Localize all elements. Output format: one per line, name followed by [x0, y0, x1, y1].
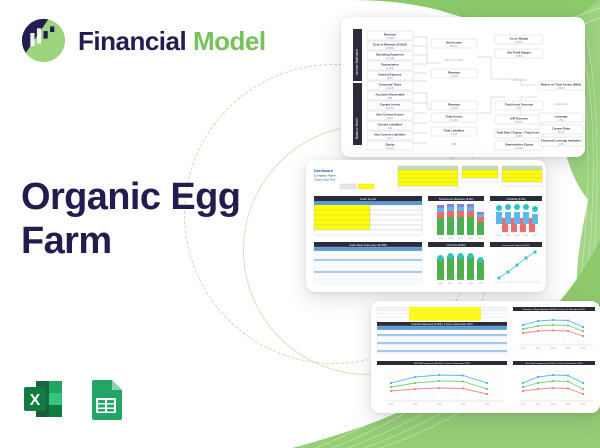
svg-text:20XX: 20XX	[438, 238, 444, 240]
svg-text:Total Debt / Equity + Total As: Total Debt / Equity + Total Assets	[496, 131, 542, 135]
svg-text:16,191: 16,191	[450, 119, 458, 122]
file-type-icons: X	[20, 375, 130, 423]
circle-bar-chart-logo-icon	[20, 17, 67, 64]
svg-text:Financial Leverage multiplier: Financial Leverage multiplier	[541, 139, 582, 143]
svg-text:Total Revenue Breakdown ($ 000: Total Revenue Breakdown ($ 000)	[439, 198, 474, 201]
svg-text:13,400: 13,400	[450, 75, 458, 78]
svg-text:20XX: 20XX	[448, 283, 454, 285]
svg-text:multiplied by: multiplied by	[554, 102, 569, 106]
svg-text:20XX: 20XX	[521, 404, 526, 406]
svg-text:20XX: 20XX	[551, 404, 556, 406]
svg-text:Profitability ($ 000): Profitability ($ 000)	[506, 198, 525, 201]
logo-word-financial: Financial	[78, 26, 186, 56]
svg-text:20XX: 20XX	[521, 348, 526, 350]
svg-text:Revenue: Revenue	[448, 71, 460, 75]
svg-text:Current Assets: Current Assets	[380, 103, 401, 107]
svg-text:20XX: 20XX	[581, 348, 586, 350]
preview-card-statements[interactable]: Financial Statements ($ 000) | 5 Years t…	[371, 301, 600, 413]
svg-text:20XX: 20XX	[478, 283, 484, 285]
svg-text:Cost of Revenue (COGS): Cost of Revenue (COGS)	[373, 43, 407, 47]
svg-text:Revenue / Margin Analysis ($ 0: Revenue / Margin Analysis ($ 000) | 5 Ye…	[523, 308, 585, 311]
svg-text:198: 198	[452, 143, 457, 146]
svg-text:(6,580): (6,580)	[386, 47, 394, 50]
svg-text:Current Ratio: Current Ratio	[552, 127, 571, 131]
svg-text:20XX: 20XX	[458, 283, 464, 285]
svg-text:Dashboard: Dashboard	[314, 169, 333, 173]
svg-text:20XX: 20XX	[437, 404, 442, 406]
svg-text:13,400: 13,400	[386, 37, 394, 40]
svg-text:Financial Statements ($ 000) |: Financial Statements ($ 000) | 5 Years t…	[411, 323, 473, 326]
logo-wordmark: Financial Model	[78, 28, 266, 54]
logo-word-model: Model	[193, 26, 266, 56]
svg-text:198: 198	[388, 127, 393, 130]
svg-text:Organic Egg Farm: Organic Egg Farm	[314, 178, 335, 182]
svg-text:3.60%: 3.60%	[557, 87, 565, 90]
svg-text:20XX: 20XX	[448, 238, 454, 240]
svg-text:Non-Current Assets: Non-Current Assets	[376, 113, 404, 117]
svg-text:Net Income: Net Income	[446, 41, 462, 45]
svg-text:20XX: 20XX	[581, 404, 586, 406]
svg-text:A/R Turnover: A/R Turnover	[510, 117, 529, 121]
svg-text:583.21: 583.21	[450, 45, 458, 48]
svg-text:10,223: 10,223	[515, 147, 523, 150]
svg-text:(1,123): (1,123)	[386, 87, 394, 90]
svg-text:Income Statement: Income Statement	[355, 49, 359, 75]
svg-text:Net Profit Margin: Net Profit Margin	[507, 51, 531, 55]
svg-text:(2,718): (2,718)	[386, 57, 394, 60]
preview-card-dashboard[interactable]: Dashboard Company Name : Organic Egg Far…	[306, 160, 546, 292]
svg-text:13,400: 13,400	[450, 107, 458, 110]
svg-text:EBITDA Comparison ($ 000) | 5: EBITDA Comparison ($ 000) | 5 Years to D…	[414, 362, 470, 365]
svg-text:20XX: 20XX	[485, 404, 490, 406]
svg-text:20XX: 20XX	[468, 283, 474, 285]
svg-text:Revenue: Revenue	[448, 103, 460, 107]
svg-text:20XX: 20XX	[524, 235, 530, 237]
svg-text:0.83: 0.83	[517, 107, 522, 110]
svg-text:Leverage: Leverage	[555, 115, 568, 119]
svg-text:Accounts Receivable: Accounts Receivable	[375, 93, 404, 97]
svg-text:20XX: 20XX	[533, 235, 539, 237]
svg-text:Return on Total Assets (ROA): Return on Total Assets (ROA)	[541, 83, 582, 87]
svg-text:Equity: Equity	[386, 143, 395, 147]
svg-text:Cash Flow Summary ($ 000): Cash Flow Summary ($ 000)	[349, 243, 387, 247]
svg-text:20XX: 20XX	[438, 283, 444, 285]
svg-text:20XX: 20XX	[458, 238, 464, 240]
svg-text:Cash Flow ($ 000): Cash Flow ($ 000)	[447, 245, 466, 247]
svg-text:20XX: 20XX	[536, 348, 541, 350]
svg-text:Interest Expense: Interest Expense	[378, 73, 402, 77]
svg-text:Non-Current Liabilities: Non-Current Liabilities	[374, 133, 406, 137]
svg-text:51.00: 51.00	[558, 131, 565, 134]
svg-text:Operating Expenses: Operating Expenses	[376, 53, 404, 57]
svg-text:3,315: 3,315	[451, 133, 458, 136]
svg-text:20XX: 20XX	[515, 235, 521, 237]
svg-text:4.35%: 4.35%	[515, 55, 523, 58]
dupont-tree-image: Income Statement Balance Sheet	[341, 17, 585, 157]
svg-text:20XX: 20XX	[389, 404, 394, 406]
statements-image: Financial Statements ($ 000) | 5 Years t…	[371, 301, 600, 413]
svg-text:Investment Payback ($ 000): Investment Payback ($ 000)	[502, 244, 530, 247]
svg-text:Corporate Taxes: Corporate Taxes	[379, 83, 402, 87]
svg-text:20XX: 20XX	[536, 404, 541, 406]
svg-text:1.58: 1.58	[559, 143, 564, 146]
svg-text:Company Name :: Company Name :	[314, 174, 338, 178]
brand-logo: Financial Model	[20, 17, 266, 64]
preview-card-dupont-tree[interactable]: Income Statement Balance Sheet	[341, 17, 585, 157]
svg-text:6,097: 6,097	[387, 117, 394, 120]
svg-text:Net Profit Comparison ($ 000): Net Profit Comparison ($ 000) | 5 Years …	[525, 362, 583, 365]
svg-text:Depreciation: Depreciation	[381, 63, 399, 67]
svg-text:Total Liabilities: Total Liabilities	[444, 129, 465, 133]
svg-text:Current Liabilities: Current Liabilities	[378, 123, 403, 127]
svg-text:20XX: 20XX	[566, 404, 571, 406]
dashboard-image: Dashboard Company Name : Organic Egg Far…	[306, 160, 546, 292]
sheets-icon[interactable]	[82, 375, 130, 423]
svg-text:154.24: 154.24	[515, 121, 523, 124]
svg-text:20.5%: 20.5%	[515, 135, 523, 138]
svg-text:20XX: 20XX	[506, 235, 512, 237]
svg-text:3,117: 3,117	[387, 137, 394, 140]
title-line-2: Farm	[21, 220, 112, 262]
svg-text:(237): (237)	[387, 77, 393, 80]
svg-text:Cash Inputs: Cash Inputs	[360, 197, 377, 201]
svg-text:Revenue: Revenue	[384, 33, 396, 37]
svg-text:20XX: 20XX	[478, 238, 484, 240]
svg-text:Gross Margin: Gross Margin	[510, 37, 529, 41]
svg-text:10,094: 10,094	[386, 107, 394, 110]
svg-text:20XX: 20XX	[468, 238, 474, 240]
svg-text:50.9%: 50.9%	[515, 41, 523, 44]
svg-text:4.35% x 0.83: 4.35% x 0.83	[511, 78, 527, 82]
svg-text:20XX: 20XX	[497, 235, 503, 237]
svg-text:20XX: 20XX	[461, 404, 466, 406]
svg-text:846: 846	[388, 97, 393, 100]
svg-text:1.58x: 1.58x	[558, 119, 565, 122]
svg-text:583.21 / 13,400: 583.21 / 13,400	[445, 58, 464, 62]
svg-text:Total Asset Turnover: Total Asset Turnover	[505, 103, 534, 107]
svg-text:20XX: 20XX	[551, 348, 556, 350]
svg-text:20XX: 20XX	[566, 348, 571, 350]
svg-text:10,223: 10,223	[386, 147, 394, 150]
svg-text:Total Assets: Total Assets	[446, 115, 463, 119]
svg-text:X: X	[30, 392, 41, 409]
svg-text:20XX: 20XX	[413, 404, 418, 406]
title-line-1: Organic Egg	[21, 176, 240, 218]
svg-text:(1,180): (1,180)	[386, 67, 394, 70]
svg-text:Shareholders Equity: Shareholders Equity	[505, 143, 534, 147]
excel-icon[interactable]: X	[20, 375, 68, 423]
page-title: Organic Egg Farm	[21, 175, 276, 264]
svg-text:Balance Sheet: Balance Sheet	[355, 118, 359, 139]
